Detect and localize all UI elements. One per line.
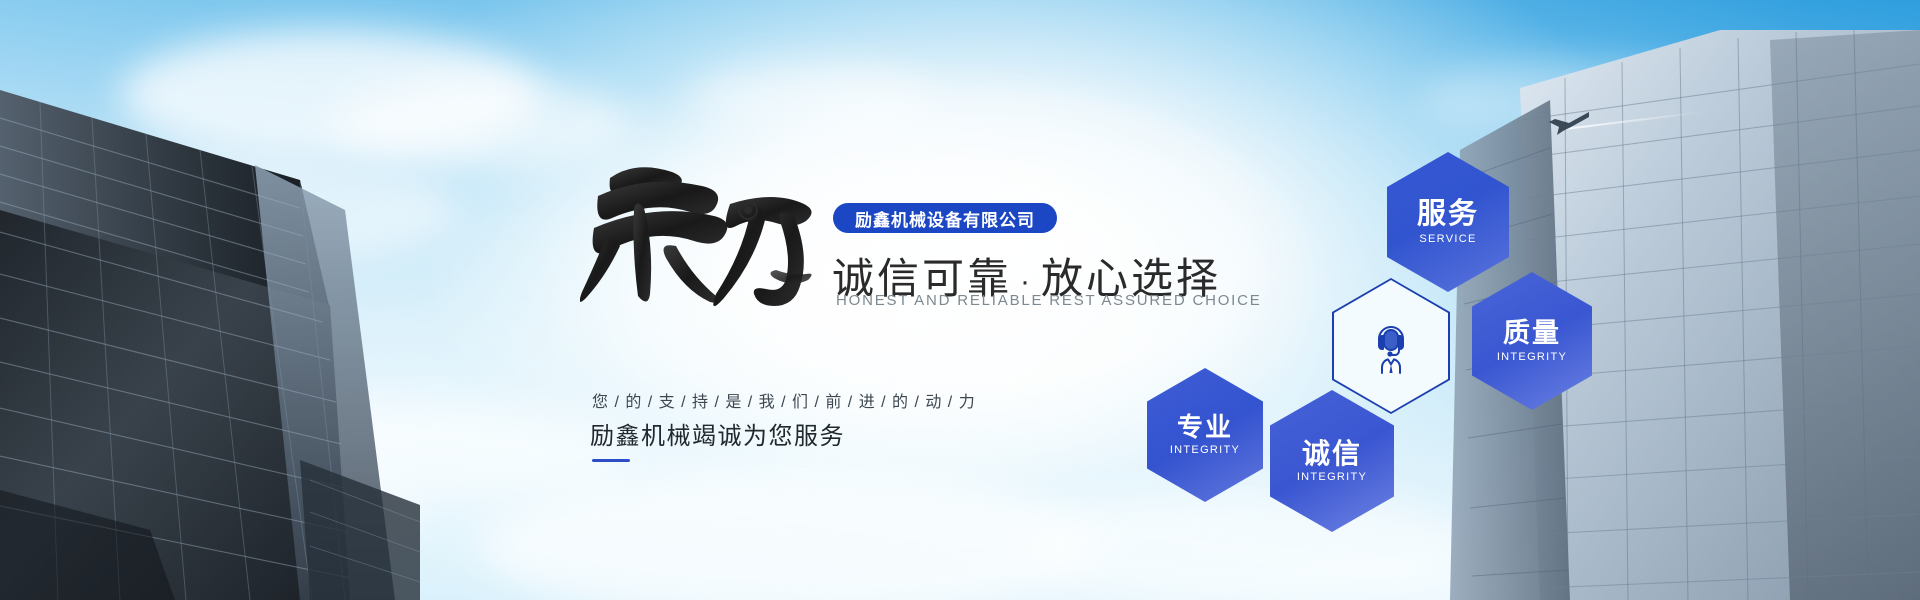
hex-badge-customer-service xyxy=(1332,278,1450,414)
hero-accent-dot xyxy=(738,200,758,220)
hex-label-cn: 质量 xyxy=(1503,319,1561,347)
company-name-badge: 励鑫机械设备有限公司 xyxy=(833,203,1057,233)
hex-badge-professional: 专业 INTEGRITY xyxy=(1147,368,1263,502)
hex-label-cn: 专业 xyxy=(1177,414,1233,441)
hex-badge-service: 服务 SERVICE xyxy=(1387,152,1509,292)
hex-badge-quality: 质量 INTEGRITY xyxy=(1472,272,1592,410)
hex-label-en: INTEGRITY xyxy=(1297,471,1367,483)
hero-calligraphy-shili xyxy=(580,150,840,320)
hex-label-cn: 诚信 xyxy=(1302,439,1362,468)
service-tagline: 励鑫机械竭诚为您服务 xyxy=(590,416,845,451)
supporting-tagline-spaced: 您 / 的 / 支 / 持 / 是 / 我 / 们 / 前 / 进 / 的 / … xyxy=(592,388,976,412)
hex-label-cn: 服务 xyxy=(1417,199,1479,229)
accent-underline xyxy=(592,459,630,462)
hex-label-en: INTEGRITY xyxy=(1170,444,1240,456)
hex-label-en: INTEGRITY xyxy=(1497,351,1567,363)
slogan-english-subtitle: HONEST AND RELIABLE REST ASSURED CHOICE xyxy=(836,292,1262,309)
hex-label-en: SERVICE xyxy=(1419,233,1476,245)
company-hero-banner: 励鑫机械设备有限公司 诚信可靠·放心选择 HONEST AND RELIABLE… xyxy=(0,0,1920,600)
customer-service-agent-icon xyxy=(1363,317,1419,375)
